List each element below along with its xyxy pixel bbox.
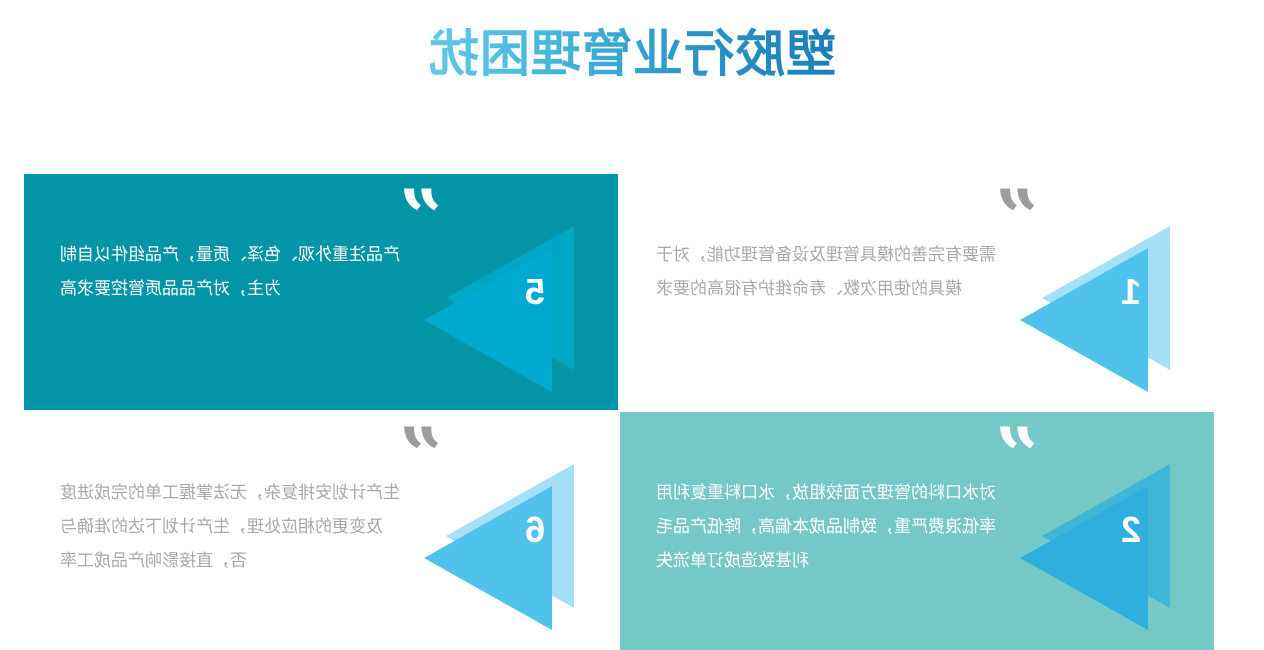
triangle-front-icon	[1020, 248, 1148, 392]
panel-number: 6	[512, 512, 558, 548]
panel-body-text: 需要有完善的模具管理及设备管理功能，对于模具的使用次数、寿命维护有很高的要求	[656, 238, 1006, 306]
panel-top-right[interactable]: ” 1 需要有完善的模具管理及设备管理功能，对于模具的使用次数、寿命维护有很高的…	[620, 174, 1214, 410]
panel-number: 1	[1108, 274, 1154, 310]
triangle-front-icon	[424, 248, 552, 392]
slide-title-container: 塑胶行业管理困扰	[0, 14, 1264, 94]
triangle-front-icon	[1020, 486, 1148, 630]
panel-body-text: 产品注重外观、色泽、质量，产品组件以自制为主，对产品品质管控要求高	[60, 238, 410, 306]
panel-bottom-right[interactable]: ” 2 对水口料的管理方面较粗放，水口料重复利用率低浪费严重，致制品成本偏高，降…	[620, 412, 1214, 650]
triangle-front-icon	[424, 486, 552, 630]
triangle-group-1: 1	[1020, 226, 1210, 401]
panel-body-text: 对水口料的管理方面较粗放，水口料重复利用率低浪费严重，致制品成本偏高，降低产品毛…	[656, 476, 1006, 578]
triangle-group-6: 6	[424, 464, 614, 639]
quadrant-grid: ” 5 产品注重外观、色泽、质量，产品组件以自制为主，对产品品质管控要求高 ” …	[24, 174, 1204, 650]
triangle-group-5: 5	[424, 226, 614, 401]
triangle-group-2: 2	[1020, 464, 1210, 639]
page-title: 塑胶行业管理困扰	[428, 27, 836, 82]
panel-number: 2	[1108, 512, 1154, 548]
panel-top-left[interactable]: ” 5 产品注重外观、色泽、质量，产品组件以自制为主，对产品品质管控要求高	[24, 174, 618, 410]
panel-number: 5	[512, 274, 558, 310]
panel-bottom-left[interactable]: ” 6 生产计划安排复杂，无法掌握工单的完成进度及变更的相应处理，生产计划下达的…	[24, 412, 618, 650]
panel-body-text: 生产计划安排复杂，无法掌握工单的完成进度及变更的相应处理，生产计划下达的准确与否…	[60, 476, 410, 578]
